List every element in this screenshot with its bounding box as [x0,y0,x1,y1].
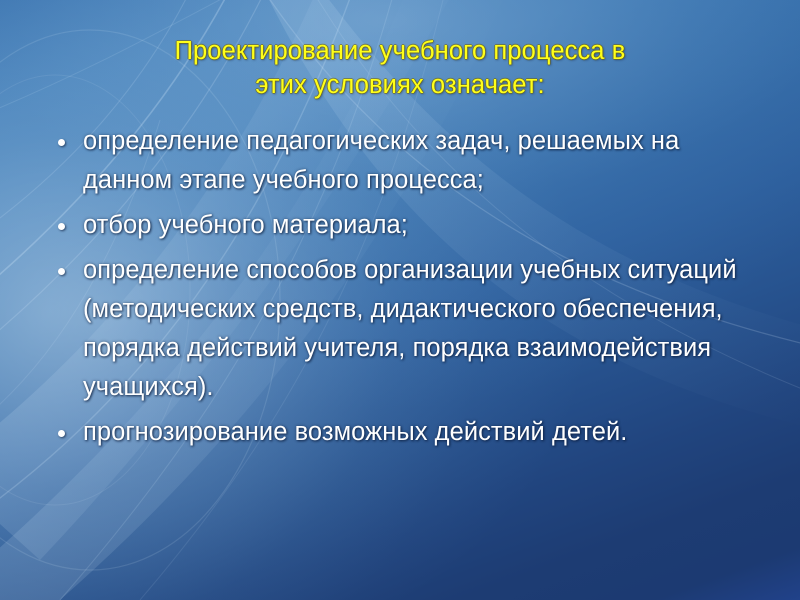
bullet-text: определение педагогических задач, решаем… [83,122,754,200]
slide-bullet-list: определение педагогических задач, решаем… [54,122,754,452]
bullet-dot-icon [58,430,65,437]
slide-title-line-2: этих условиях означает: [100,68,700,102]
bullet-text: отбор учебного материала; [83,206,754,245]
presentation-slide: Проектирование учебного процесса в этих … [0,0,800,600]
bullet-text: определение способов организации учебных… [83,251,754,407]
bullet-dot-icon [58,139,65,146]
bullet-dot-icon [58,268,65,275]
list-item: отбор учебного материала; [54,206,754,245]
list-item: определение способов организации учебных… [54,251,754,407]
slide-title: Проектирование учебного процесса в этих … [100,34,700,102]
bullet-text: прогнозирование возможных действий детей… [83,413,754,452]
list-item: прогнозирование возможных действий детей… [54,413,754,452]
bullet-dot-icon [58,223,65,230]
slide-title-line-1: Проектирование учебного процесса в [100,34,700,68]
list-item: определение педагогических задач, решаем… [54,122,754,200]
